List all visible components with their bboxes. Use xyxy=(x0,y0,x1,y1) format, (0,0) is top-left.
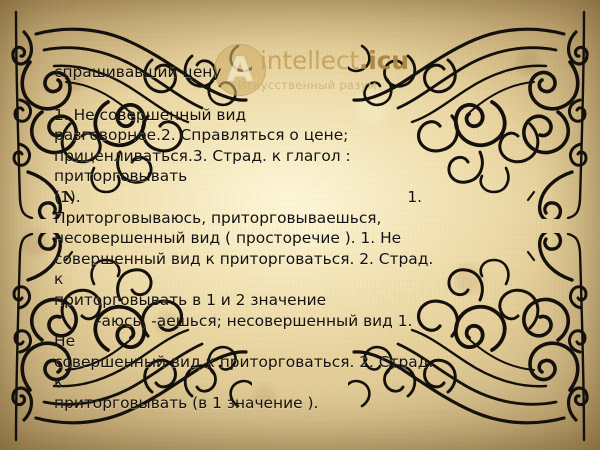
parchment-page: A intellect.icu Искусственный разум спра… xyxy=(0,0,600,450)
headword: спрашивавший цену xyxy=(54,62,436,83)
article-line: Приторговываюсь, приторговываешься, xyxy=(54,208,436,229)
article-line: приценливаться.3. Страд. к глагол : прит… xyxy=(54,146,436,187)
sense-block: 1. Не совершенный вид разговорное.2. Спр… xyxy=(54,105,436,414)
article-line-indented: -аюсь, -аешься; несовершенный вид 1. Не xyxy=(54,311,436,352)
article-line: разговорное.2. Справляться о цене; xyxy=(54,125,436,146)
article-line: совершенный вид к приторговаться. 2. Стр… xyxy=(54,249,436,290)
article-line: несовершенный вид ( просторечие ). 1. Не xyxy=(54,228,436,249)
article-line: приторговывать в 1 и 2 значение xyxy=(54,290,436,311)
article-line: совершенный вид к приторговаться. 2. Стр… xyxy=(54,352,436,393)
article-line: 1. Не совершенный вид xyxy=(54,105,436,126)
dictionary-article: спрашивавший цену 1. Не совершенный вид … xyxy=(54,62,436,414)
article-split-row: (1). 1. xyxy=(54,187,422,208)
article-line-text: -аюсь, -аешься; несовершенный вид 1. Не xyxy=(54,312,412,351)
article-split-left: (1). xyxy=(54,187,81,208)
article-split-right: 1. xyxy=(407,187,422,208)
article-line: приторговывать (в 1 значение ). xyxy=(54,393,436,414)
